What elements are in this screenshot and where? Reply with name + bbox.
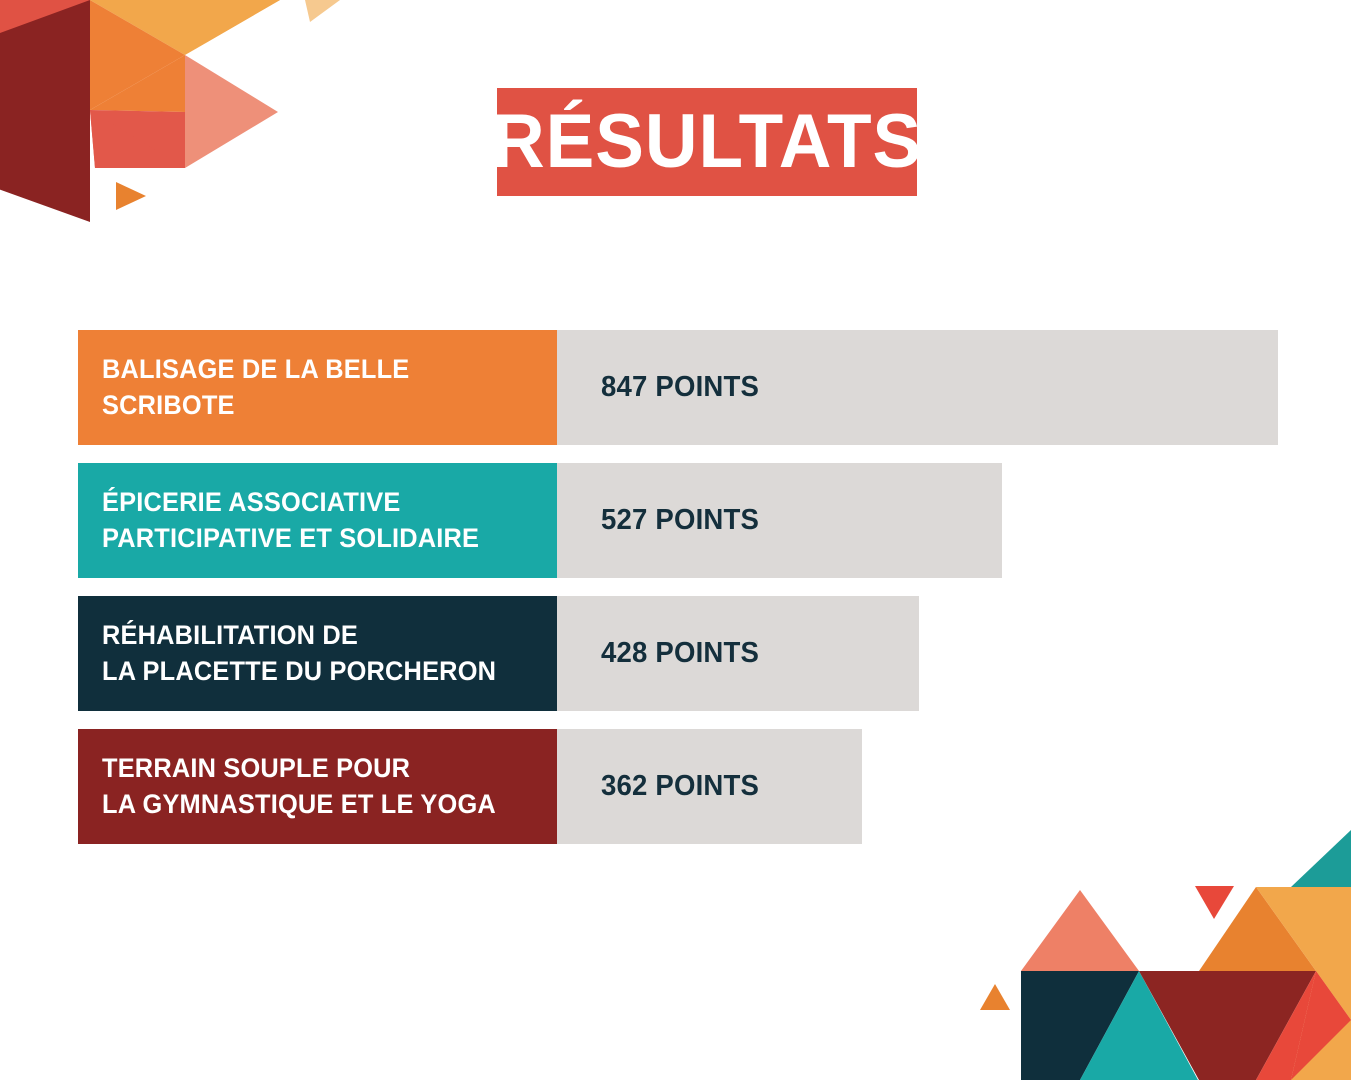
triangle-lightorange-right2 — [1291, 971, 1351, 1080]
triangle-red-mid — [90, 110, 185, 168]
triangle-teal-corner — [1291, 830, 1351, 887]
decorative-triangles-top-left — [0, 0, 340, 230]
triangle-red-topleft — [0, 0, 90, 92]
decorative-triangles-bottom-right — [951, 830, 1351, 1080]
page-title-banner: RÉSULTATS — [497, 88, 917, 196]
table-row: RÉHABILITATION DE LA PLACETTE DU PORCHER… — [78, 596, 1278, 711]
result-label-line: LA GYMNASTIQUE ET LE YOGA — [102, 787, 530, 823]
result-label-line: SCRIBOTE — [102, 388, 530, 424]
triangle-lightpeach-corner — [305, 0, 340, 22]
triangle-navy-bottom — [1021, 971, 1139, 1080]
triangle-orange-upper — [90, 0, 185, 110]
table-row: BALISAGE DE LA BELLE SCRIBOTE 847 POINTS — [78, 330, 1278, 445]
result-label-line: LA PLACETTE DU PORCHERON — [102, 654, 530, 690]
triangle-darkred-bottom — [1139, 971, 1316, 1080]
result-label-block-3: RÉHABILITATION DE LA PLACETTE DU PORCHER… — [78, 596, 557, 711]
result-label-block-1: BALISAGE DE LA BELLE SCRIBOTE — [78, 330, 557, 445]
result-label-line: TERRAIN SOUPLE POUR — [102, 751, 530, 787]
triangle-red-mid2 — [90, 110, 185, 168]
result-points-value: 847 POINTS — [601, 330, 759, 445]
triangle-orange-right — [1199, 887, 1316, 971]
results-chart: BALISAGE DE LA BELLE SCRIBOTE 847 POINTS… — [78, 330, 1278, 862]
result-label-block-4: TERRAIN SOUPLE POUR LA GYMNASTIQUE ET LE… — [78, 729, 557, 844]
triangle-tomato-bottom-right — [1256, 971, 1316, 1080]
result-label-line: BALISAGE DE LA BELLE — [102, 352, 530, 388]
result-points-value: 428 POINTS — [601, 596, 759, 711]
triangle-tomato-bottom-right2 — [1291, 971, 1351, 1080]
triangle-lightorange-top2 — [185, 0, 280, 55]
triangle-salmon-left — [1021, 890, 1139, 971]
triangle-orange-small-arrow — [116, 182, 146, 210]
result-label-block-2: ÉPICERIE ASSOCIATIVE PARTICIPATIVE ET SO… — [78, 463, 557, 578]
table-row: TERRAIN SOUPLE POUR LA GYMNASTIQUE ET LE… — [78, 729, 1278, 844]
triangle-peach-right — [185, 55, 278, 168]
triangle-red-small-down — [1195, 886, 1234, 919]
triangle-orange-tiny — [980, 984, 1010, 1010]
result-label-line: ÉPICERIE ASSOCIATIVE — [102, 485, 530, 521]
triangle-orange-upper-right — [90, 55, 185, 112]
triangle-teal-bottom — [1080, 971, 1198, 1080]
triangle-lightorange-right — [1256, 887, 1351, 1020]
page-title: RÉSULTATS — [492, 104, 922, 180]
result-points-value: 362 POINTS — [601, 729, 759, 844]
table-row: ÉPICERIE ASSOCIATIVE PARTICIPATIVE ET SO… — [78, 463, 1278, 578]
result-points-value: 527 POINTS — [601, 463, 759, 578]
triangle-darkred-large — [0, 0, 90, 222]
result-label-line: PARTICIPATIVE ET SOLIDAIRE — [102, 521, 530, 557]
triangle-lightorange-top — [90, 0, 280, 55]
result-label-line: RÉHABILITATION DE — [102, 618, 530, 654]
